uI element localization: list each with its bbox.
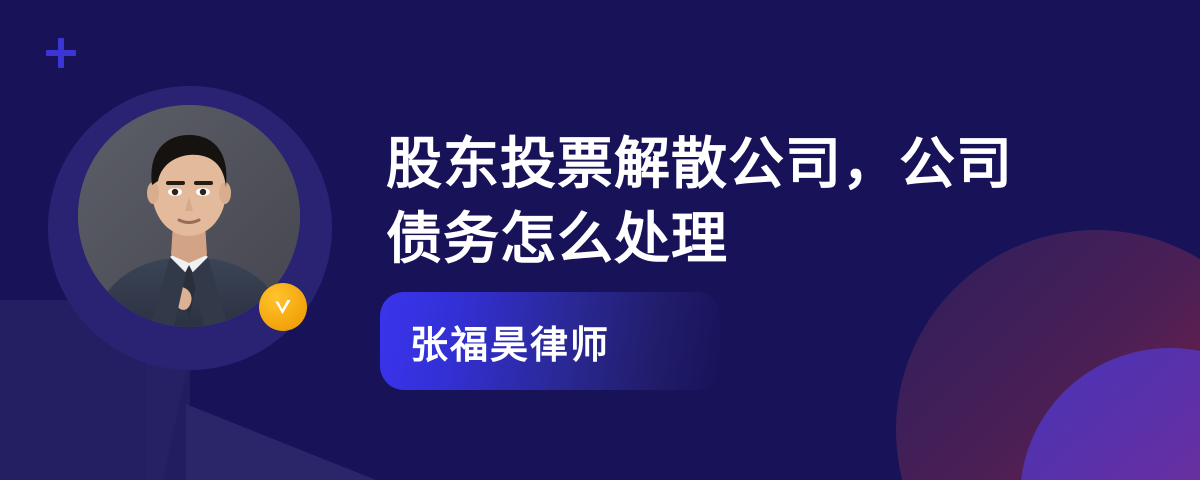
lawyer-article-banner: 股东投票解散公司，公司债务怎么处理 张福昊律师	[0, 0, 1200, 480]
decor-triangle-shape	[186, 404, 376, 480]
page-title: 股东投票解散公司，公司债务怎么处理	[386, 126, 1056, 276]
avatar[interactable]	[48, 86, 332, 370]
author-name-badge[interactable]: 张福昊律师	[380, 292, 720, 390]
author-name-label: 张福昊律师	[380, 314, 610, 369]
banner-content: 股东投票解散公司，公司债务怎么处理 张福昊律师	[386, 0, 1086, 480]
plus-icon	[46, 38, 76, 68]
verified-check-v-icon	[259, 283, 307, 331]
